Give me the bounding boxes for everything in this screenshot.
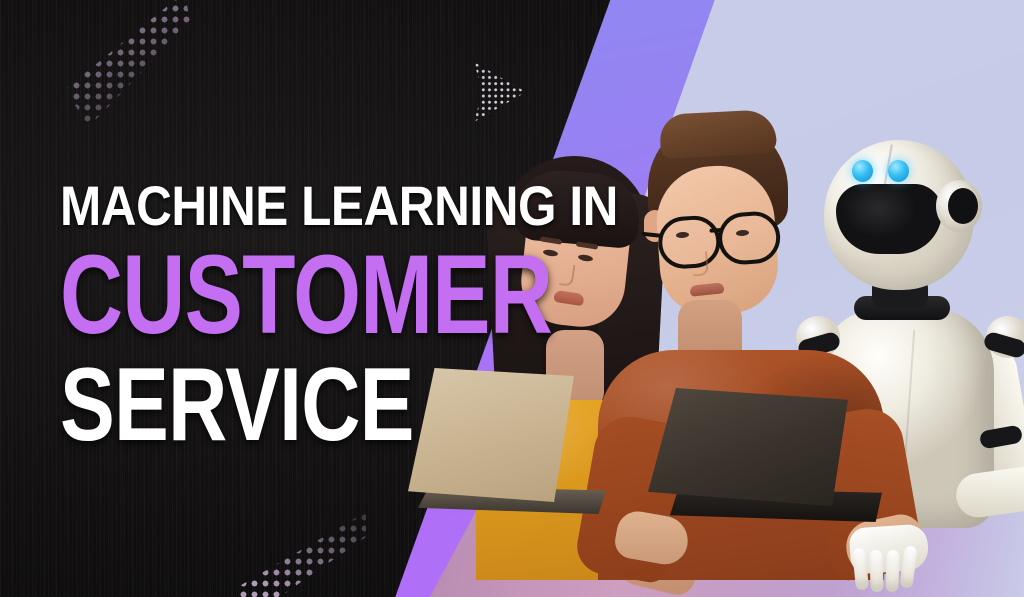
headline-line-3: SERVICE xyxy=(60,353,558,457)
headline-line-1: MACHINE LEARNING IN xyxy=(60,178,628,234)
banner-image: MACHINE LEARNING IN CUSTOMER SERVICE xyxy=(0,0,1024,597)
headline-block: MACHINE LEARNING IN CUSTOMER SERVICE xyxy=(60,178,691,457)
robot-finger-2 xyxy=(869,550,883,592)
man-nose xyxy=(691,251,709,276)
headline-line-2-accent: CUSTOMER xyxy=(60,239,552,351)
robot-finger-3 xyxy=(885,550,899,592)
robot-hand-group xyxy=(790,140,1024,560)
man-hair-tuft xyxy=(659,109,777,159)
